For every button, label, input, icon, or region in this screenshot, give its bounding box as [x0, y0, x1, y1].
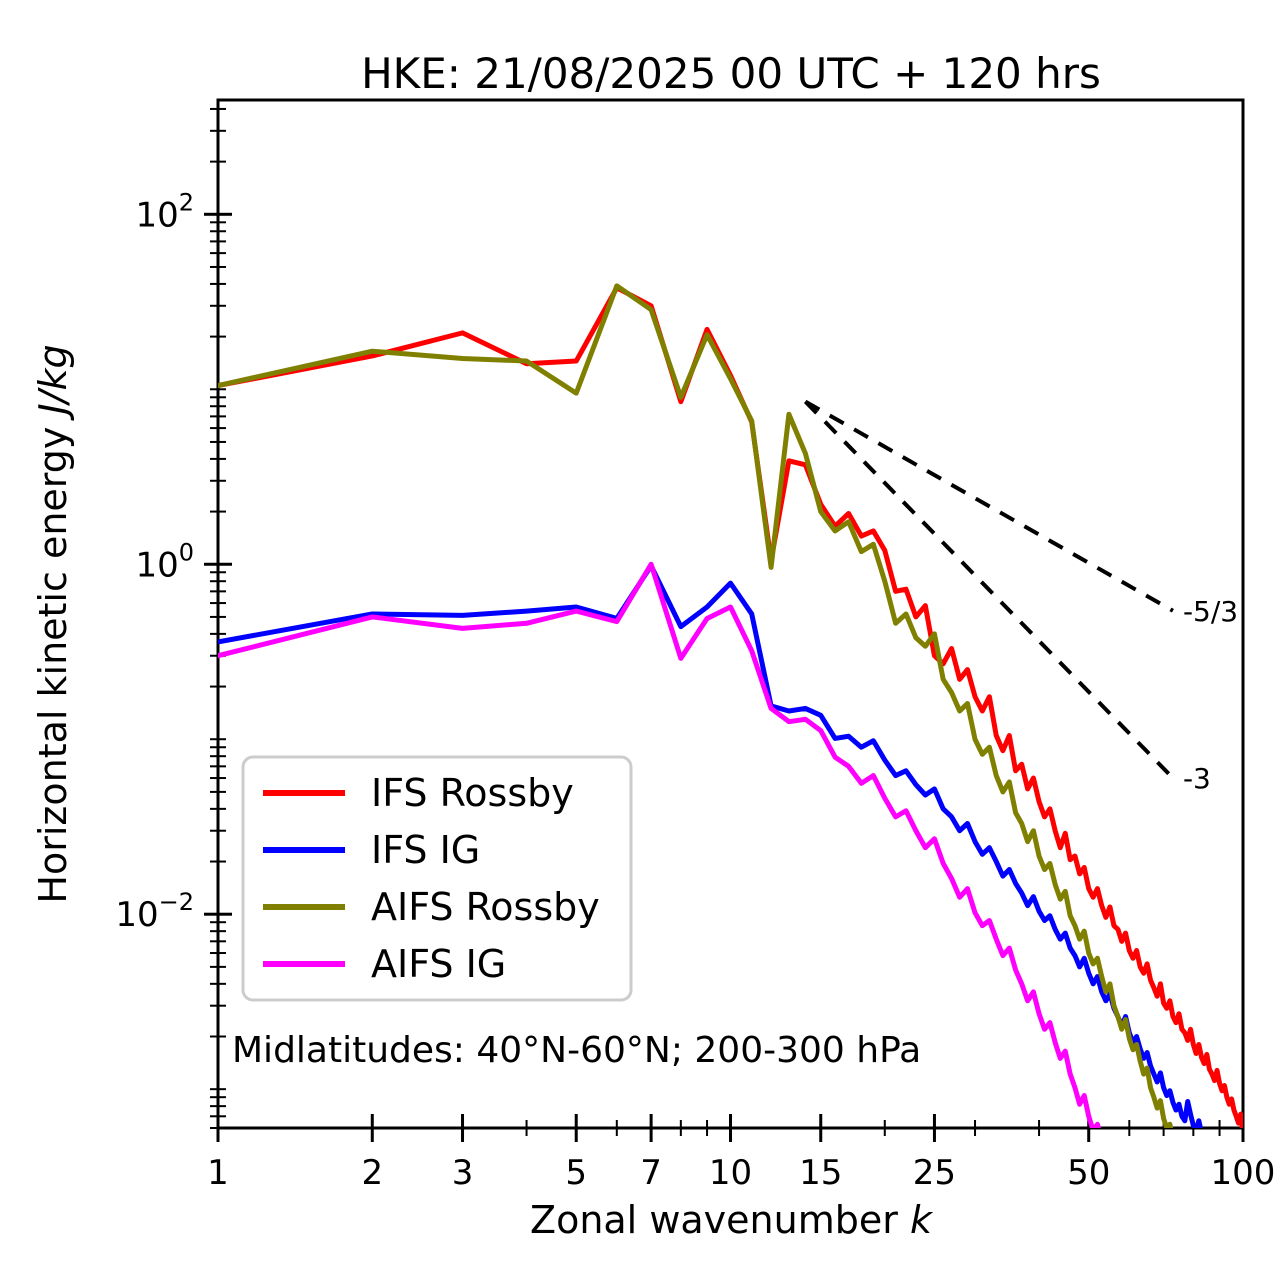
x-tick-label: 3	[452, 1153, 474, 1193]
x-tick-label: 7	[640, 1153, 662, 1193]
x-tick-label: 100	[1211, 1153, 1276, 1193]
x-tick-label: 25	[913, 1153, 956, 1193]
chart-svg: HKE: 21/08/2025 00 UTC + 120 hrs 1235710…	[0, 0, 1280, 1288]
x-tick-label: 2	[361, 1153, 383, 1193]
x-tick-label: 10	[709, 1153, 752, 1193]
x-tick-label: 50	[1067, 1153, 1110, 1193]
chart-title: HKE: 21/08/2025 00 UTC + 120 hrs	[361, 49, 1101, 98]
figure-container: HKE: 21/08/2025 00 UTC + 120 hrs 1235710…	[0, 0, 1280, 1288]
reference-label-3: -3	[1183, 762, 1211, 795]
y-axis-title: Horizontal kinetic energy J/kg	[31, 344, 75, 903]
reference-label-53: -5/3	[1183, 595, 1238, 628]
x-tick-label: 5	[565, 1153, 587, 1193]
x-tick-label: 1	[207, 1153, 229, 1193]
region-annotation: Midlatitudes: 40°N-60°N; 200-300 hPa	[232, 1030, 921, 1071]
x-tick-label: 15	[799, 1153, 842, 1193]
legend-label-ifs-rossby[interactable]: IFS Rossby	[371, 771, 574, 815]
legend-label-ifs-ig[interactable]: IFS IG	[371, 828, 480, 872]
legend[interactable]: IFS RossbyIFS IGAIFS RossbyAIFS IG	[243, 757, 631, 1000]
legend-label-aifs-rossby[interactable]: AIFS Rossby	[371, 885, 600, 929]
legend-label-aifs-ig[interactable]: AIFS IG	[371, 942, 506, 986]
x-axis-title: Zonal wavenumber k	[530, 1198, 934, 1242]
